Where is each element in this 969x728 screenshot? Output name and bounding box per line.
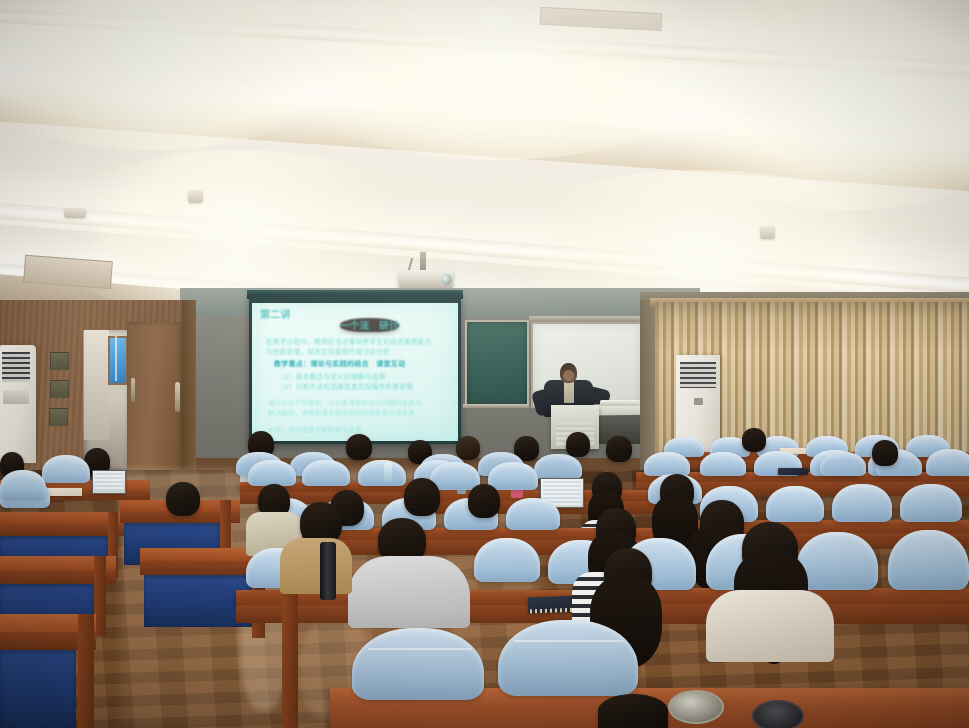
desk-modesty-panel	[0, 650, 76, 728]
slide-line: 小结：学习需要不断积累与反思	[268, 425, 362, 434]
door-handle[interactable]	[175, 382, 180, 412]
padded-seat-back	[0, 470, 46, 498]
lecturer-face	[563, 370, 574, 381]
padded-seat-back	[42, 455, 90, 483]
projector-lens-icon	[441, 274, 452, 285]
student-head	[566, 432, 590, 457]
student-head	[166, 482, 200, 516]
student-head	[404, 478, 440, 516]
water-bottle	[384, 462, 392, 482]
spiral-notebook	[778, 468, 808, 475]
ac-control-panel	[3, 390, 29, 404]
thermos-flask	[320, 542, 336, 600]
padded-seat-back	[820, 452, 866, 476]
thermos-flask	[752, 700, 804, 728]
ceiling-light-fixture	[760, 226, 775, 239]
student-torso	[348, 556, 470, 628]
padded-seat-back	[498, 620, 638, 696]
slide-highlight: 教学重点：理论与实践的结合 课堂互动	[274, 359, 405, 369]
wall-plaque	[50, 380, 69, 398]
console-equipment	[600, 400, 640, 406]
padded-seat-back	[248, 460, 296, 486]
padded-seat-back	[700, 452, 746, 476]
laptop-screen-content	[95, 473, 123, 491]
corridor-wall	[84, 330, 109, 440]
seat-stitching	[368, 648, 472, 650]
padded-seat-back	[888, 530, 969, 590]
slide-title: 第二讲	[260, 306, 291, 321]
ac-grille	[2, 352, 30, 382]
slide-line: （1）基本概念与定义的理解与运用	[278, 371, 385, 381]
slide-line: 通过对比不同案例，可以更清晰地认识问题的本质与	[268, 398, 422, 407]
ceiling	[0, 0, 969, 300]
padded-seat-back	[900, 484, 962, 522]
student-head	[742, 428, 766, 452]
padded-seat-back	[358, 460, 406, 486]
ceiling-light-fixture	[188, 190, 203, 203]
student-head	[346, 434, 372, 460]
student-torso	[280, 538, 352, 594]
slide-line: 解决路径，进而形成系统性的知识框架和方法体系	[268, 408, 415, 417]
padded-seat-back	[488, 462, 538, 490]
padded-seat-back	[766, 486, 824, 522]
projection-screen: 第二讲 一个法 研讨 在教学过程中，教师应当注重培养学生的综合素质能力 与创新思…	[252, 303, 458, 441]
student-head	[598, 694, 668, 728]
slide-heading: 一个法 研讨	[340, 318, 399, 332]
ac-grille	[680, 362, 716, 388]
slide-line: 在教学过程中，教师应当注重培养学生的综合素质能力	[266, 336, 431, 346]
student-head	[456, 436, 480, 460]
lecture-hall-photo: 第二讲 一个法 研讨 在教学过程中，教师应当注重培养学生的综合素质能力 与创新思…	[0, 0, 969, 728]
slide-line: 与创新思维，结合实际案例开展讨论分析	[266, 346, 390, 356]
ceiling-light-fixture	[64, 208, 86, 218]
green-chalkboard	[465, 320, 529, 408]
padded-seat-back	[302, 460, 350, 486]
desk-leg	[282, 590, 298, 728]
desk-leg	[78, 614, 94, 728]
door-handle[interactable]	[131, 378, 135, 402]
padded-seat-back	[796, 532, 878, 590]
open-laptop[interactable]	[92, 470, 126, 494]
ac-brand-badge	[694, 398, 703, 405]
wall-plaque	[50, 352, 69, 370]
lecturer-shirt	[564, 381, 574, 403]
corridor-window	[108, 336, 128, 385]
padded-seat-back	[644, 452, 690, 476]
padded-seat-back	[474, 538, 540, 582]
padded-seat-back	[534, 454, 582, 479]
wall-plaque	[49, 408, 68, 426]
student-head	[872, 440, 898, 466]
padded-seat-back	[832, 484, 892, 522]
seat-stitching	[514, 640, 624, 642]
padded-seat-back	[926, 449, 969, 476]
student-torso	[706, 590, 834, 662]
chalk-tray	[463, 404, 529, 408]
slide-line: （2）分析方法的选择及其实际操作步骤说明	[278, 381, 413, 391]
thermos-flask	[668, 690, 724, 724]
student-head	[468, 484, 500, 518]
student-head	[606, 436, 632, 462]
padded-seat-back	[506, 498, 560, 530]
padded-seat-back	[352, 628, 484, 700]
window-mullion	[115, 336, 117, 381]
